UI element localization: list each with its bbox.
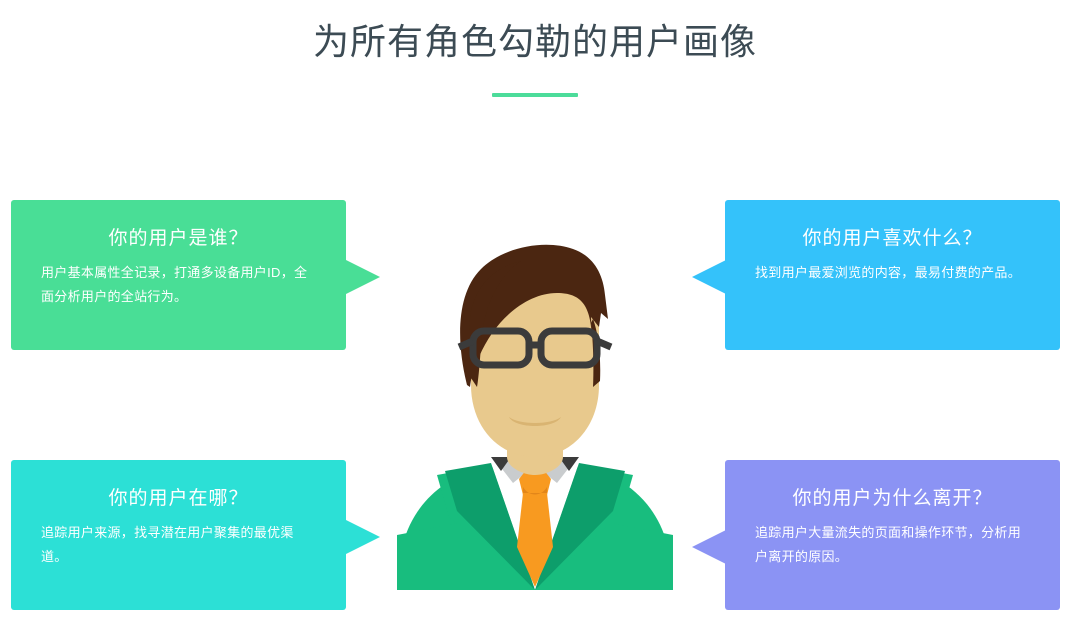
businessman-avatar-illustration (395, 235, 675, 590)
info-card-who[interactable]: 你的用户是谁？ 用户基本属性全记录，打通多设备用户ID，全面分析用户的全站行为。 (11, 200, 389, 350)
info-card-body: 你的用户是谁？ 用户基本属性全记录，打通多设备用户ID，全面分析用户的全站行为。 (11, 200, 346, 350)
info-card-text: 追踪用户来源，找寻潜在用户聚集的最优渠道。 (41, 521, 316, 569)
info-card-body: 你的用户喜欢什么？ 找到用户最爱浏览的内容，最易付费的产品。 (725, 200, 1060, 350)
speech-tail-icon (346, 520, 380, 554)
speech-tail-icon (346, 260, 380, 294)
info-card-where[interactable]: 你的用户在哪？ 追踪用户来源，找寻潜在用户聚集的最优渠道。 (11, 460, 389, 610)
page-title: 为所有角色勾勒的用户画像 (0, 0, 1070, 66)
speech-tail-icon (692, 260, 726, 294)
info-card-title: 你的用户喜欢什么？ (755, 226, 1030, 252)
info-card-why[interactable]: 你的用户为什么离开？ 追踪用户大量流失的页面和操作环节，分析用户离开的原因。 (692, 460, 1070, 610)
info-card-title: 你的用户是谁？ (41, 226, 316, 252)
info-card-likes[interactable]: 你的用户喜欢什么？ 找到用户最爱浏览的内容，最易付费的产品。 (692, 200, 1070, 350)
info-card-title: 你的用户为什么离开？ (755, 486, 1030, 512)
page-header: 为所有角色勾勒的用户画像 (0, 0, 1070, 97)
info-card-text: 追踪用户大量流失的页面和操作环节，分析用户离开的原因。 (755, 521, 1030, 569)
info-card-text: 用户基本属性全记录，打通多设备用户ID，全面分析用户的全站行为。 (41, 261, 316, 309)
avatar-icon (395, 235, 675, 590)
info-card-title: 你的用户在哪？ (41, 486, 316, 512)
title-underline-divider (492, 93, 578, 97)
info-card-text: 找到用户最爱浏览的内容，最易付费的产品。 (755, 261, 1030, 285)
info-card-body: 你的用户为什么离开？ 追踪用户大量流失的页面和操作环节，分析用户离开的原因。 (725, 460, 1060, 610)
speech-tail-icon (692, 530, 726, 564)
info-card-body: 你的用户在哪？ 追踪用户来源，找寻潜在用户聚集的最优渠道。 (11, 460, 346, 610)
